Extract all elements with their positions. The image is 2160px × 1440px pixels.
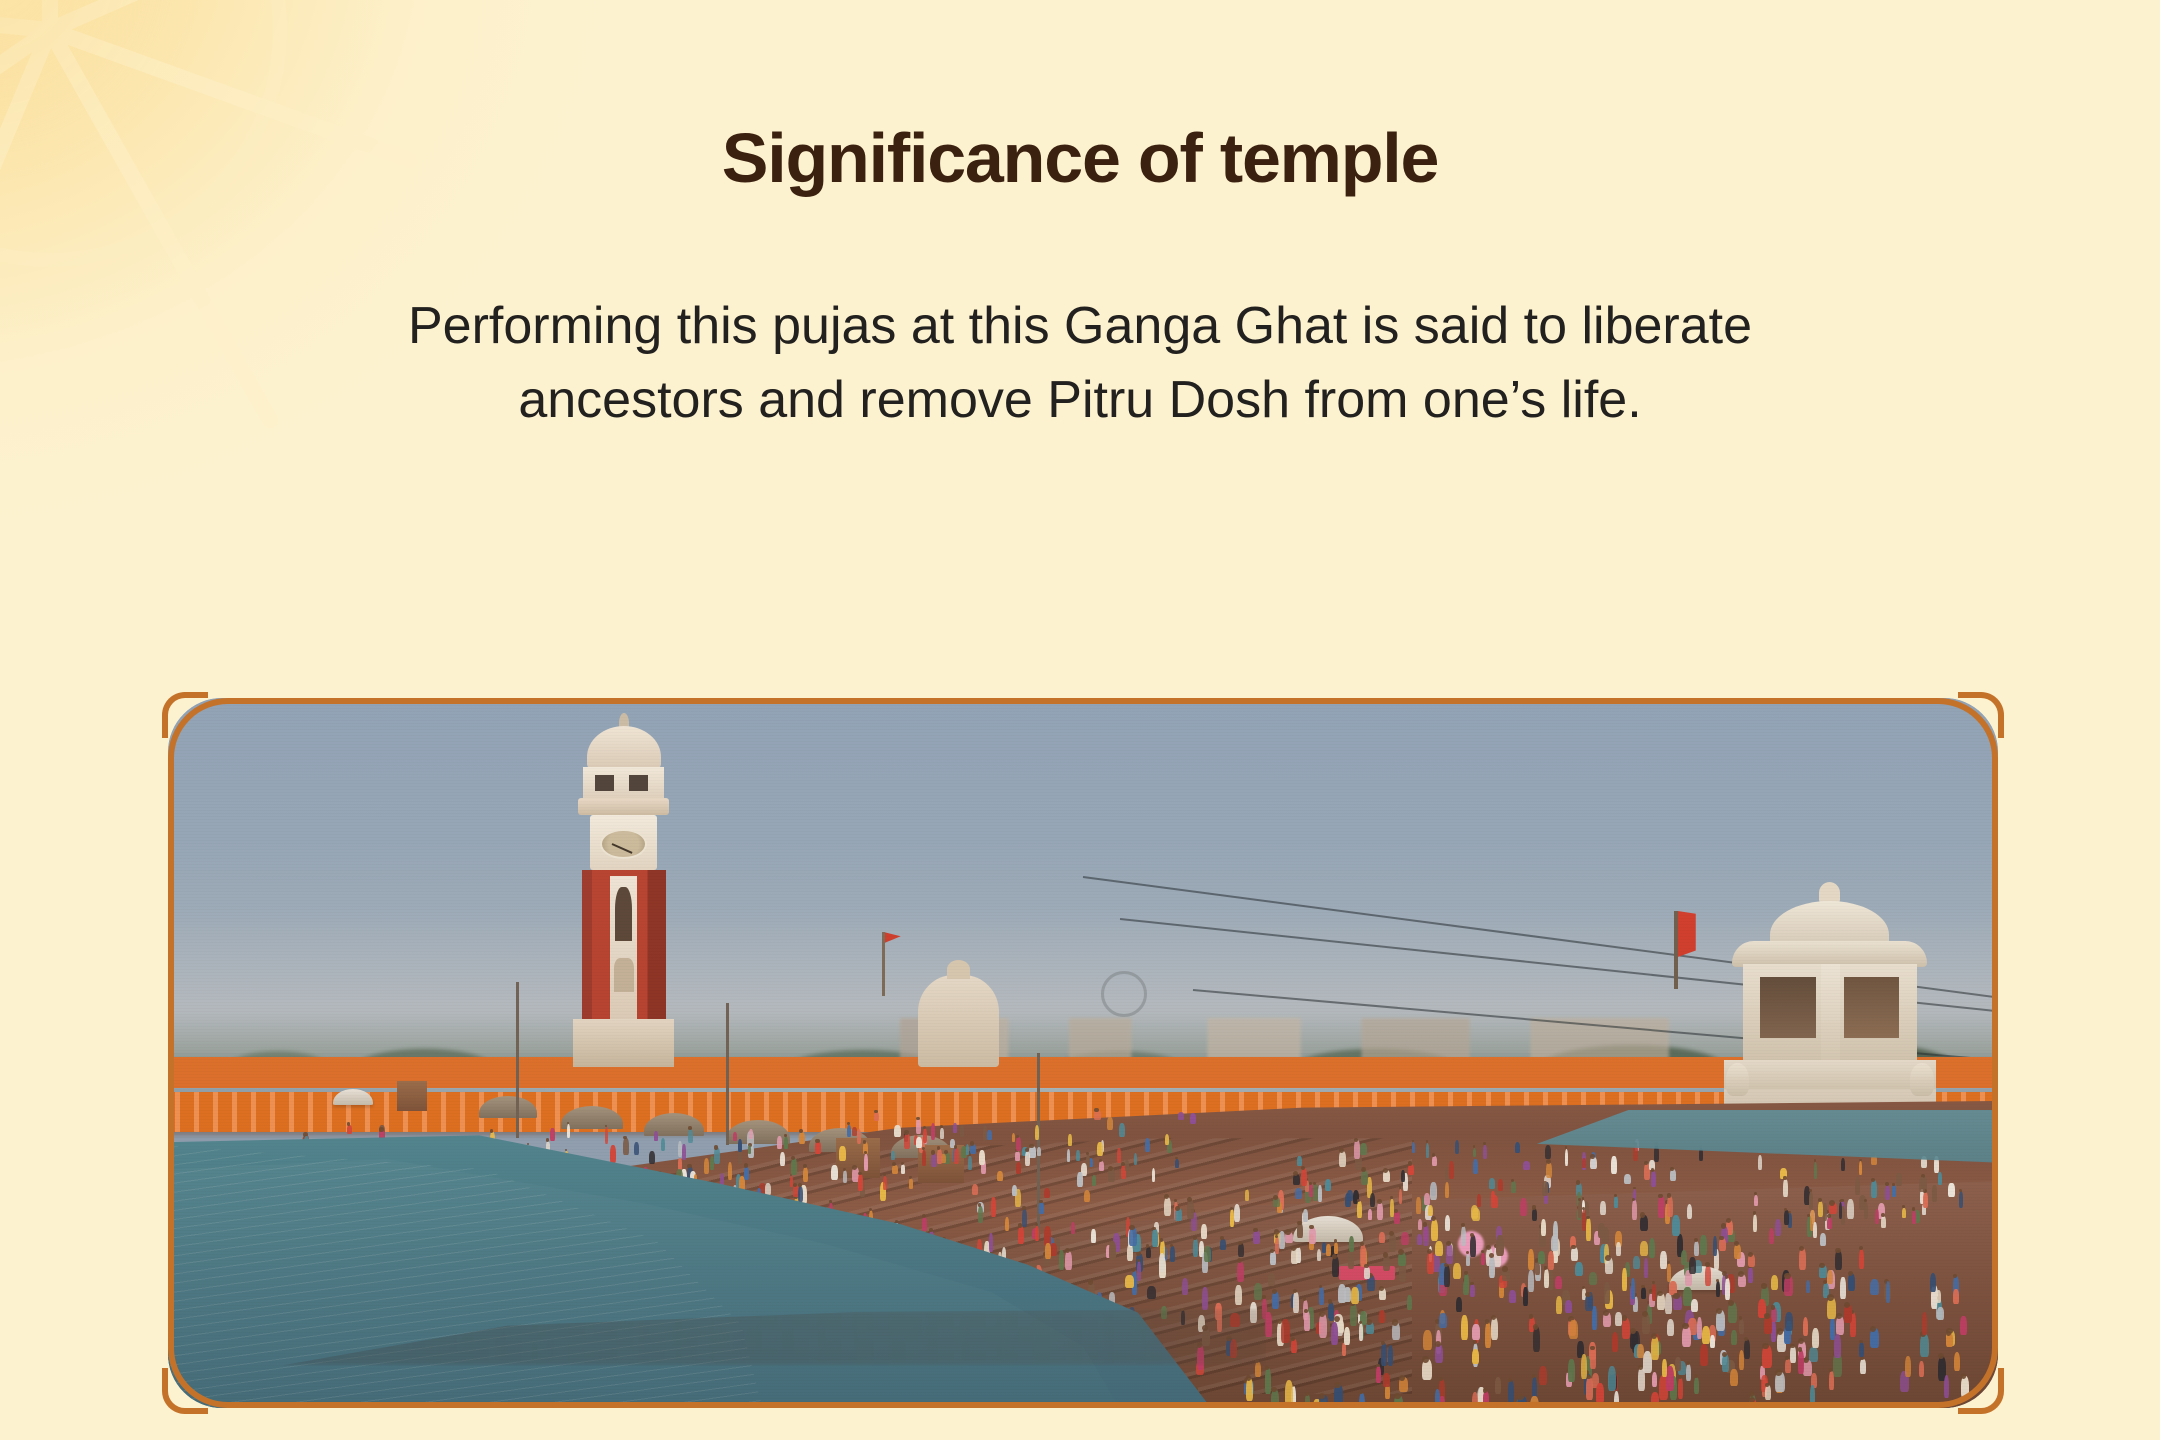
photo-person <box>1445 1215 1451 1231</box>
photo-person-head <box>687 1164 691 1168</box>
photo-person <box>892 1165 898 1174</box>
photo-person <box>1348 1250 1354 1269</box>
photo-person <box>1810 1385 1815 1405</box>
photo-person <box>688 1129 693 1143</box>
photo-person-head <box>904 1130 908 1134</box>
photo-person <box>1556 1296 1562 1314</box>
photo-person <box>567 1124 570 1138</box>
photo-person <box>1785 1359 1791 1374</box>
photo-person <box>1279 1231 1285 1249</box>
photo-person <box>780 1152 785 1166</box>
photo-person <box>1470 1284 1475 1297</box>
photo-person <box>901 1164 905 1174</box>
photo-person <box>1528 1249 1534 1270</box>
photo-person <box>1449 1161 1454 1179</box>
photo-person <box>847 1125 851 1138</box>
photo-person <box>1799 1248 1806 1269</box>
photo-person <box>1193 1238 1198 1257</box>
photo-person <box>923 1128 928 1143</box>
photo-person <box>1285 1380 1294 1406</box>
photo-person <box>1477 1194 1481 1207</box>
photo-person <box>1859 1249 1865 1269</box>
photo-person-head <box>1230 1207 1233 1210</box>
photo-person <box>1309 1227 1316 1244</box>
frame-corner-bottom-right <box>1958 1368 2004 1414</box>
photo-person-head <box>1765 1383 1769 1387</box>
photo-person <box>874 1112 879 1121</box>
photo-person <box>777 1136 782 1148</box>
photo-person-head <box>1590 1154 1595 1159</box>
photo-person-head <box>1394 1393 1401 1400</box>
photo-person <box>1920 1334 1928 1357</box>
photo-person <box>978 1206 983 1223</box>
photo-person <box>916 1119 921 1134</box>
photo-person-head <box>1334 1382 1340 1388</box>
photo-person-head <box>1726 1218 1731 1223</box>
photo-clock-tower <box>582 726 666 1067</box>
photo-person-head <box>1018 1223 1022 1227</box>
photo-person <box>960 1125 964 1137</box>
photo-person <box>748 1145 751 1154</box>
photo-person <box>1394 1211 1400 1224</box>
photo-person <box>1016 1162 1021 1174</box>
photo-person <box>1788 1213 1792 1228</box>
photo-person <box>1076 1150 1080 1162</box>
photo-person <box>1145 1138 1150 1152</box>
photo-person-head <box>1383 1168 1388 1173</box>
photo-person <box>1418 1219 1422 1230</box>
photo-person-head <box>1633 1187 1636 1190</box>
photo-red-flag <box>1674 911 1678 989</box>
photo-person <box>1332 1256 1339 1277</box>
photo-person-head <box>1603 1310 1609 1316</box>
photo-person <box>1508 1380 1514 1403</box>
photo-person <box>1568 1359 1574 1382</box>
photo-person <box>1509 1290 1515 1302</box>
photo-person-head <box>1271 1387 1277 1393</box>
photo-person-head <box>1379 1286 1384 1291</box>
photo-person <box>831 1165 838 1180</box>
photo-person <box>1357 1201 1362 1218</box>
photo-person <box>954 1148 959 1165</box>
photo-person <box>744 1166 750 1180</box>
photo-person <box>1190 1113 1196 1124</box>
photo-person <box>1491 1195 1498 1207</box>
photo-person <box>1319 1313 1328 1338</box>
photo-person <box>1379 1232 1385 1243</box>
photo-person <box>1555 1276 1562 1289</box>
photo-person <box>1535 1262 1540 1275</box>
photo-person-head <box>1160 1238 1163 1241</box>
photo-person <box>1165 1134 1170 1145</box>
photo-person <box>1551 1235 1558 1251</box>
photo-person <box>1039 1202 1044 1214</box>
photo-person-head <box>1291 1337 1295 1341</box>
frame-corner-top-right <box>1958 692 2004 738</box>
photo-person <box>1855 1177 1860 1195</box>
photo-person <box>1489 1178 1495 1189</box>
photo-person-head <box>1764 1313 1770 1319</box>
photo-person <box>1725 1278 1730 1300</box>
photo-person <box>1590 1349 1596 1369</box>
photo-person <box>1705 1265 1711 1286</box>
photo-person <box>1012 1133 1016 1142</box>
photo-person <box>1202 1287 1207 1310</box>
photo-person <box>940 1128 944 1139</box>
photo-person <box>966 1144 970 1155</box>
photo-person-head <box>688 1126 692 1130</box>
photo-person <box>1234 1204 1241 1223</box>
subtitle-line-1: Performing this pujas at this Ganga Ghat… <box>130 290 2030 364</box>
photo-person <box>968 1156 972 1170</box>
photo-person <box>1827 1270 1833 1284</box>
photo-person <box>1670 1169 1676 1181</box>
photo-person <box>733 1132 737 1141</box>
photo-person-head <box>1686 1361 1690 1365</box>
photo-person <box>1238 1243 1244 1257</box>
photo-person <box>1455 1140 1460 1154</box>
photo-person-head <box>1836 1313 1842 1319</box>
photo-person <box>1758 1155 1762 1170</box>
ganga-ghat-photo <box>168 698 1998 1408</box>
photo-person <box>634 1142 639 1155</box>
photo-person-head <box>922 1147 925 1150</box>
photo-person <box>1575 1262 1583 1277</box>
photo-person <box>1839 1202 1843 1219</box>
photo-person-head <box>1285 1229 1290 1234</box>
photo-person <box>1604 1282 1610 1304</box>
photo-person-head <box>1146 1244 1150 1248</box>
photo-person <box>1344 1327 1350 1345</box>
tower-clock-face <box>600 829 647 860</box>
photo-person <box>1615 1312 1622 1325</box>
photo-person <box>1565 1300 1573 1312</box>
photo-person-head <box>1748 1252 1753 1257</box>
photo-person-head <box>1848 1271 1853 1276</box>
photo-person-head <box>1253 1228 1258 1233</box>
photo-person <box>1059 1250 1064 1270</box>
photo-person <box>1611 1156 1616 1175</box>
photo-person-head <box>1464 1271 1468 1275</box>
photo-person <box>864 1154 868 1172</box>
photo-person-head <box>1377 1199 1382 1204</box>
photo-person <box>1686 1364 1691 1381</box>
photo-person <box>623 1138 628 1155</box>
photo-person-head <box>1427 1249 1432 1254</box>
photo-person <box>1809 1192 1813 1209</box>
photo-person-head <box>1532 1205 1536 1209</box>
photo-person-head <box>852 1165 857 1170</box>
photo-person <box>1412 1142 1416 1152</box>
photo-person <box>1515 1142 1520 1153</box>
photo-person <box>1246 1378 1253 1401</box>
photo-person-head <box>1722 1352 1727 1357</box>
photo-person <box>1716 1281 1720 1297</box>
photo-person <box>1612 1332 1619 1352</box>
photo-person-head <box>1334 1239 1337 1242</box>
photo-person <box>1608 1366 1616 1391</box>
photo-person <box>1178 1112 1184 1121</box>
photo-person-head <box>1912 1207 1915 1210</box>
photo-person <box>799 1132 804 1145</box>
photo-person-head <box>858 1172 861 1175</box>
photo-person <box>1864 1202 1868 1219</box>
photo-person <box>1875 1209 1879 1224</box>
photo-person-head <box>1784 1273 1790 1279</box>
photo-person <box>1932 1185 1937 1202</box>
photo-person <box>1582 1158 1586 1168</box>
shrine-urn-left <box>1726 1063 1749 1096</box>
photo-person <box>1071 1222 1075 1234</box>
photo-person <box>1730 1369 1738 1386</box>
photo-person-head <box>1175 1157 1178 1160</box>
photo-person <box>1435 1241 1443 1256</box>
photo-person <box>1152 1168 1156 1182</box>
photo-person <box>1473 1159 1478 1174</box>
photo-person-head <box>970 1141 975 1146</box>
photo-person <box>1545 1145 1551 1159</box>
photo-person <box>1748 1267 1753 1283</box>
photo-person <box>839 1146 845 1161</box>
photo-person <box>1245 1189 1250 1201</box>
photo-lamp-post <box>516 982 519 1138</box>
photo-person <box>1303 1209 1308 1222</box>
photo-person <box>1417 1234 1422 1245</box>
photo-person <box>1859 1342 1864 1357</box>
photo-person-head <box>1790 1344 1794 1348</box>
tower-dome <box>587 726 661 770</box>
photo-person <box>1813 1222 1817 1238</box>
photo-person <box>1640 1241 1648 1256</box>
photo-person <box>1125 1275 1133 1288</box>
photo-person <box>972 1184 978 1195</box>
page-title: Significance of temple <box>0 120 2160 197</box>
photo-person <box>1084 1190 1090 1202</box>
photo-person <box>997 1171 1003 1182</box>
photo-person <box>1744 1339 1750 1358</box>
photo-person <box>1713 1236 1717 1257</box>
photo-person <box>1960 1316 1967 1334</box>
photo-person <box>1347 1190 1353 1201</box>
photo-person <box>1237 1261 1244 1282</box>
photo-person <box>1354 1140 1359 1159</box>
photo-person-head <box>1705 1262 1709 1266</box>
photo-person-head <box>1470 1233 1474 1237</box>
photo-person <box>1622 1318 1629 1339</box>
tower-arched-window <box>615 887 632 942</box>
photo-person-head <box>1844 1302 1850 1308</box>
photo-person <box>1485 1322 1491 1348</box>
photo-person <box>1785 1312 1793 1331</box>
photo-person <box>1523 1161 1530 1171</box>
photo-person-head <box>1489 1253 1494 1258</box>
photo-person <box>1546 1162 1553 1178</box>
photo-person-head <box>784 1134 787 1137</box>
photo-person <box>1147 1286 1155 1299</box>
photo-person <box>1790 1346 1796 1362</box>
photo-person-head <box>1582 1207 1585 1210</box>
photo-person-head <box>1364 1264 1369 1269</box>
photo-person <box>784 1137 788 1150</box>
photo-person <box>1018 1226 1024 1244</box>
photo-person <box>1430 1182 1437 1200</box>
photo-person <box>1569 1320 1577 1339</box>
photo-person <box>1753 1214 1758 1232</box>
photo-person-head <box>1641 1285 1644 1288</box>
photo-person-head <box>1193 1236 1197 1240</box>
photo-person <box>610 1145 616 1163</box>
photo-person <box>1275 1237 1279 1254</box>
photo-person-head <box>1535 1259 1539 1263</box>
photo-person-head <box>864 1151 867 1154</box>
photo-person <box>815 1141 821 1154</box>
photo-person <box>1025 1151 1030 1166</box>
photo-person-head <box>1754 1192 1757 1195</box>
photo-person <box>1710 1335 1715 1348</box>
photo-person-head <box>1642 1311 1648 1317</box>
photo-person <box>1326 1244 1331 1256</box>
photo-person <box>1919 1177 1925 1192</box>
photo-person <box>1432 1156 1437 1166</box>
photo-person <box>1390 1199 1394 1217</box>
photo-person <box>550 1128 554 1141</box>
photo-person <box>1319 1287 1324 1305</box>
photo-person <box>1689 1257 1696 1274</box>
photo-person <box>714 1147 721 1163</box>
photo-person-head <box>1533 1324 1539 1330</box>
photo-person-head <box>1892 1183 1895 1186</box>
photo-person <box>1295 1188 1302 1200</box>
photo-person <box>1672 1215 1680 1236</box>
photo-person <box>1754 1195 1758 1207</box>
photo-person-head <box>1835 1248 1840 1253</box>
photo-person <box>1496 1235 1504 1257</box>
photo-person <box>1641 1287 1646 1299</box>
photo-far-buildings <box>900 1018 1669 1061</box>
photo-person <box>790 1176 793 1187</box>
photo-person <box>1067 1149 1070 1162</box>
photo-person <box>803 1167 808 1182</box>
photo-person-head <box>1291 1246 1296 1251</box>
photo-person <box>1293 1292 1298 1313</box>
photo-person <box>1424 1193 1430 1205</box>
photo-person-head <box>1753 1211 1756 1214</box>
photo-person <box>1483 1391 1490 1407</box>
photo-person-head <box>1502 1266 1507 1271</box>
photo-person <box>1937 1307 1944 1320</box>
photo-person <box>1322 1242 1326 1253</box>
photo-person <box>1936 1290 1941 1303</box>
photo-person <box>1481 1253 1485 1266</box>
photo-person <box>1665 1293 1671 1315</box>
photo-person <box>649 1151 655 1164</box>
photo-person-head <box>863 1140 867 1144</box>
photo-person <box>1829 1371 1834 1391</box>
photo-person <box>1922 1312 1927 1335</box>
photo-person-head <box>1328 1299 1332 1303</box>
photo-person-head <box>1174 1199 1177 1202</box>
photo-person-head <box>869 1208 873 1212</box>
photo-person <box>1187 1200 1194 1219</box>
photo-person <box>1678 1377 1684 1398</box>
photo-person <box>1511 1181 1516 1193</box>
photo-person <box>931 1123 936 1140</box>
photo-person <box>1012 1185 1017 1196</box>
photo-person-head <box>1578 1198 1581 1201</box>
photo-person-head <box>909 1176 912 1179</box>
photo-person <box>1930 1273 1937 1292</box>
photo-person <box>1470 1235 1476 1257</box>
photo-person <box>1953 1289 1959 1304</box>
photo-person-head <box>1749 1397 1755 1403</box>
photo-person-head <box>1392 1319 1398 1325</box>
photo-person <box>1548 1251 1554 1270</box>
photo-person <box>1902 1208 1906 1218</box>
photo-person <box>1489 1256 1496 1278</box>
photo-person <box>1204 1246 1211 1262</box>
photo-person <box>1297 1223 1303 1237</box>
photo-person <box>1125 1160 1129 1171</box>
photo-person <box>931 1153 937 1167</box>
photo-person-head <box>1296 1245 1300 1249</box>
photo-person <box>1368 1209 1372 1220</box>
photo-person <box>1035 1226 1039 1241</box>
photo-person <box>1401 1170 1405 1183</box>
photo-person <box>1291 1339 1296 1353</box>
photo-person <box>1338 1320 1344 1333</box>
photo-person <box>605 1127 608 1144</box>
photo-person <box>1667 1319 1674 1336</box>
photo-person-head <box>1094 1108 1099 1113</box>
photo-person <box>1351 1287 1359 1304</box>
photo-person <box>1281 1319 1290 1343</box>
photo-person <box>1119 1123 1125 1137</box>
photo-person <box>1783 1179 1788 1197</box>
photo-person-head <box>1297 1221 1301 1225</box>
photo-person <box>1015 1151 1020 1161</box>
photo-person <box>1694 1377 1699 1394</box>
photo-person-head <box>1771 1305 1776 1310</box>
photo-person <box>979 1150 985 1165</box>
photo-person <box>953 1123 956 1133</box>
photo-person <box>1948 1183 1954 1197</box>
photo-person <box>1220 1239 1225 1251</box>
photo-person <box>1109 1241 1116 1260</box>
photo-person <box>1037 1147 1042 1156</box>
photo-person <box>1581 1354 1587 1379</box>
photo-person <box>1466 1254 1470 1266</box>
photo-person <box>1541 1219 1546 1236</box>
photo-person <box>1596 1383 1604 1404</box>
photo-person <box>1651 1336 1660 1360</box>
photo-person <box>1719 1238 1725 1251</box>
photo-person-head <box>1319 1311 1325 1317</box>
photo-person-head <box>1721 1223 1726 1228</box>
photo-person <box>1651 1171 1656 1188</box>
photo-person <box>1159 1253 1166 1272</box>
photo-person <box>1644 1258 1648 1278</box>
photo-person <box>1068 1134 1071 1146</box>
photo-person <box>678 1141 682 1158</box>
photo-person <box>1472 1349 1479 1364</box>
photo-person <box>1666 1366 1674 1390</box>
photo-person <box>1739 1319 1744 1334</box>
shrine-urn-right <box>1910 1063 1933 1096</box>
photo-person <box>1919 1361 1924 1378</box>
photo-person <box>1834 1334 1841 1358</box>
photo-person <box>1959 1191 1964 1208</box>
photo-flagpole-left <box>882 932 885 996</box>
